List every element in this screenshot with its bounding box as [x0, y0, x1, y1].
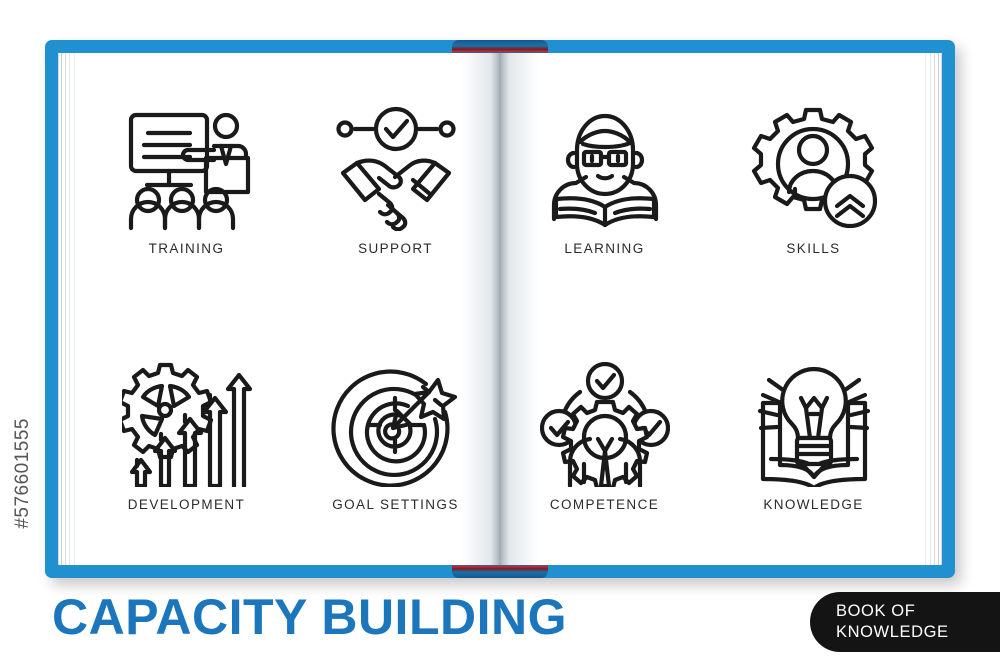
book-pages: TRAINING: [58, 53, 942, 565]
page-edges-right: [918, 53, 942, 565]
icon-label: GOAL SETTINGS: [332, 497, 458, 512]
spine-bookmark-bottom: [452, 565, 548, 578]
page-title: CAPACITY BUILDING: [52, 592, 567, 642]
icon-cell-learning[interactable]: LEARNING: [500, 53, 709, 309]
icon-cell-goal-settings[interactable]: GOAL SETTINGS: [291, 309, 500, 565]
badge-line-2: KNOWLEDGE: [836, 622, 1000, 643]
gear-person-chevrons-icon: [749, 106, 879, 231]
book-cover: TRAINING: [45, 40, 955, 578]
icon-label: TRAINING: [149, 241, 225, 256]
handshake-check-icon: [331, 106, 461, 231]
lightbulb-book-icon: [749, 362, 879, 487]
icon-label: KNOWLEDGE: [763, 497, 863, 512]
icon-label: LEARNING: [564, 241, 644, 256]
infographic-canvas: #576601555: [0, 0, 1000, 667]
icon-cell-development[interactable]: DEVELOPMENT: [82, 309, 291, 565]
icon-label: SUPPORT: [358, 241, 433, 256]
spine-bookmark-top: [452, 40, 548, 53]
icon-cell-knowledge[interactable]: KNOWLEDGE: [709, 309, 918, 565]
icon-cell-training[interactable]: TRAINING: [82, 53, 291, 309]
icon-label: COMPETENCE: [550, 497, 659, 512]
person-reading-book-icon: [540, 106, 670, 231]
person-gear-checks-icon: [540, 362, 670, 487]
icon-cell-support[interactable]: SUPPORT: [291, 53, 500, 309]
icon-cell-competence[interactable]: COMPETENCE: [500, 309, 709, 565]
icon-label: DEVELOPMENT: [128, 497, 245, 512]
icon-grid: TRAINING: [82, 53, 918, 565]
page-edges-left: [58, 53, 82, 565]
stock-id-watermark: #576601555: [12, 418, 34, 529]
target-arrow-icon: [331, 362, 461, 487]
gear-growth-arrows-icon: [122, 362, 252, 487]
icon-cell-skills[interactable]: SKILLS: [709, 53, 918, 309]
badge-line-1: BOOK OF: [836, 601, 1000, 622]
book-of-knowledge-badge: BOOK OF KNOWLEDGE: [810, 592, 1000, 652]
training-presentation-icon: [122, 106, 252, 231]
icon-label: SKILLS: [786, 241, 840, 256]
